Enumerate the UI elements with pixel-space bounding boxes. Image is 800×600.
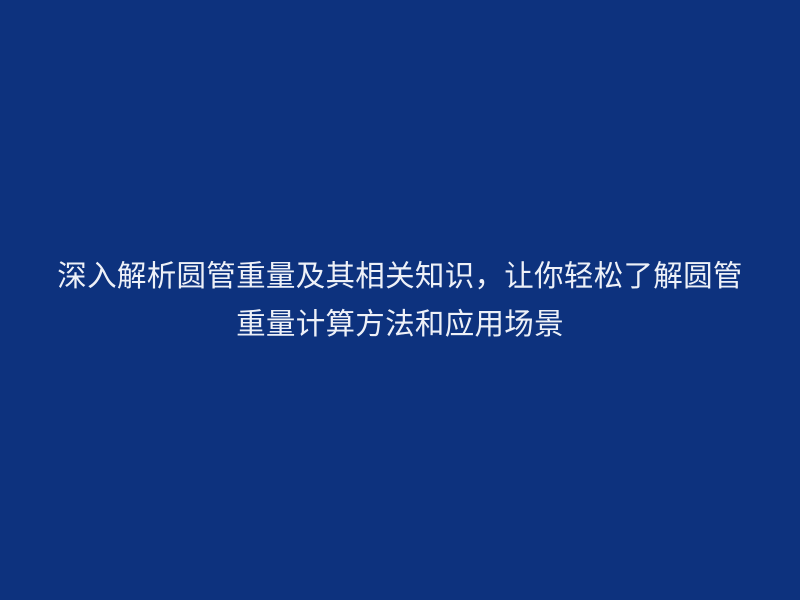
title-block: 深入解析圆管重量及其相关知识，让你轻松了解圆管重量计算方法和应用场景 (50, 252, 750, 348)
page-title: 深入解析圆管重量及其相关知识，让你轻松了解圆管重量计算方法和应用场景 (50, 252, 750, 348)
title-card-background: 深入解析圆管重量及其相关知识，让你轻松了解圆管重量计算方法和应用场景 (0, 0, 800, 600)
